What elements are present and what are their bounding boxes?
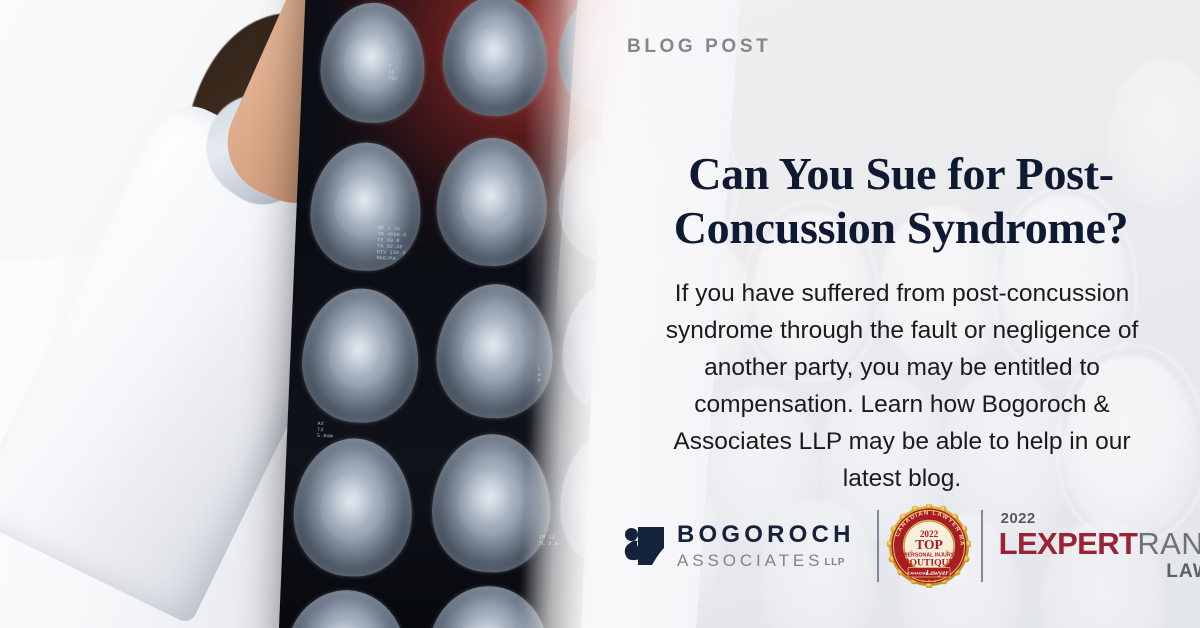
brand-suffix: LLP — [824, 558, 845, 568]
logo-divider-left — [877, 510, 879, 582]
ampersand-square-icon — [622, 524, 666, 568]
lexpert-ranked-label: RANKED — [1137, 528, 1200, 559]
content-panel: BLOG POST Can You Sue for Post-Concussio… — [600, 0, 1200, 628]
svg-text:★: ★ — [945, 549, 950, 555]
lexpert-lawfirm-label: LAW FIRM — [1166, 562, 1200, 581]
bogoroch-logo[interactable]: BOGOROCH ASSOCIATES LLP — [614, 523, 855, 569]
mri-film-sheet: MP 1.35 TR 4000.0 TE 99.0 TA 02:38 DIV 1… — [277, 0, 608, 628]
brand-name: BOGOROCH — [677, 523, 855, 547]
social-share-card: MP 1.35 TR 4000.0 TE 99.0 TA 02:38 DIV 1… — [0, 0, 1200, 628]
logo-bar: BOGOROCH ASSOCIATES LLP — [614, 498, 1200, 594]
svg-text:BOUTIQUE: BOUTIQUE — [903, 558, 955, 569]
award-seal-icon[interactable]: CANADIAN LAWYER MAGAZINE 2022 TOP PERSON… — [887, 504, 971, 588]
svg-text:★: ★ — [909, 549, 914, 555]
body-paragraph: If you have suffered from post-concussio… — [642, 275, 1162, 497]
brand-subtitle: ASSOCIATES — [677, 552, 823, 569]
eyebrow-label: BLOG POST — [627, 36, 771, 58]
lexpert-wordmark: LEXPERT — [999, 528, 1138, 559]
lexpert-year: 2022 — [1001, 511, 1036, 526]
logo-divider-right — [981, 510, 983, 582]
svg-text:TOP: TOP — [915, 537, 943, 552]
svg-text:Lawyer: Lawyer — [924, 568, 948, 577]
lexpert-ranked-logo[interactable]: 2022 LEXPERT RANKED LAW FIRM — [999, 511, 1200, 581]
page-title: Can You Sue for Post-Concussion Syndrome… — [608, 147, 1194, 255]
hero-photo-doctor-mri: MP 1.35 TR 4000.0 TE 99.0 TA 02:38 DIV 1… — [0, 0, 640, 628]
